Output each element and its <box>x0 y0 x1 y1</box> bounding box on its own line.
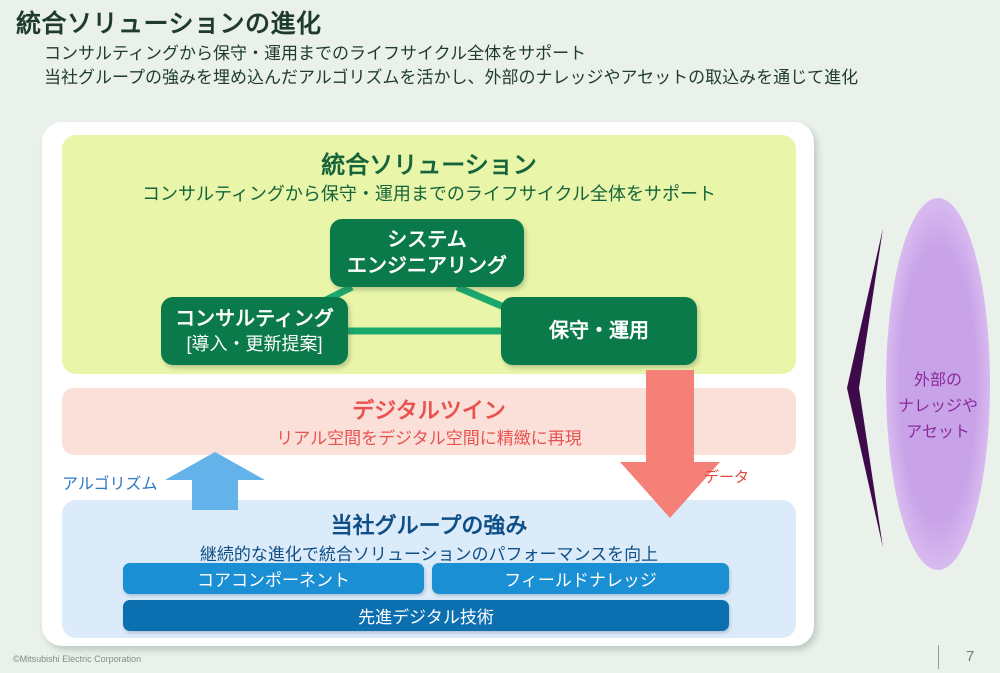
box-system-engineering-line1: システム <box>387 227 466 253</box>
page-subtitle: コンサルティングから保守・運用までのライフサイクル全体をサポート 当社グループの… <box>44 42 858 90</box>
box-core-component-label: コアコンポーネント <box>197 566 350 591</box>
box-consulting-line2: [導入・更新提案] <box>186 332 322 356</box>
subtitle-line-1: コンサルティングから保守・運用までのライフサイクル全体をサポート <box>44 42 858 66</box>
page-number-divider <box>938 645 939 669</box>
group-strength-subtitle: 継続的な進化で統合ソリューションのパフォーマンスを向上 <box>62 540 796 565</box>
data-label: データ <box>704 466 749 487</box>
box-field-knowledge-label: フィールドナレッジ <box>504 566 657 591</box>
box-consulting-line1: コンサルティング <box>175 306 334 332</box>
external-knowledge-text: 外部の ナレッジや アセット <box>886 368 990 446</box>
box-core-component[interactable]: コアコンポーネント <box>123 563 424 594</box>
box-field-knowledge[interactable]: フィールドナレッジ <box>432 563 729 594</box>
box-system-engineering[interactable]: システム エンジニアリング <box>330 219 524 287</box>
subtitle-line-2: 当社グループの強みを埋め込んだアルゴリズムを活かし、外部のナレッジやアセットの取… <box>44 66 858 90</box>
external-line-2: ナレッジや <box>886 394 990 420</box>
algorithm-up-arrow-icon <box>160 450 270 510</box>
box-advanced-digital-technology[interactable]: 先進デジタル技術 <box>123 600 729 631</box>
box-advanced-digital-technology-label: 先進デジタル技術 <box>358 603 494 628</box>
external-inflow-arrow-icon <box>845 228 885 548</box>
integrated-solution-title: 統合ソリューション <box>62 145 796 180</box>
slide-canvas: 統合ソリューションの進化 コンサルティングから保守・運用までのライフサイクル全体… <box>0 0 1000 673</box>
external-line-1: 外部の <box>886 368 990 394</box>
algorithm-label: アルゴリズム <box>62 470 158 494</box>
page-number: 7 <box>966 648 974 665</box>
box-consulting[interactable]: コンサルティング [導入・更新提案] <box>161 297 348 365</box>
page-title: 統合ソリューションの進化 <box>16 4 322 40</box>
box-system-engineering-line2: エンジニアリング <box>347 253 507 279</box>
data-down-arrow-icon <box>616 370 724 520</box>
copyright-text: ©Mitsubishi Electric Corporation <box>13 654 141 664</box>
external-line-3: アセット <box>886 420 990 446</box>
integrated-solution-subtitle: コンサルティングから保守・運用までのライフサイクル全体をサポート <box>62 180 796 206</box>
box-maintenance-operation-line1: 保守・運用 <box>549 318 649 344</box>
box-maintenance-operation[interactable]: 保守・運用 <box>501 297 697 365</box>
